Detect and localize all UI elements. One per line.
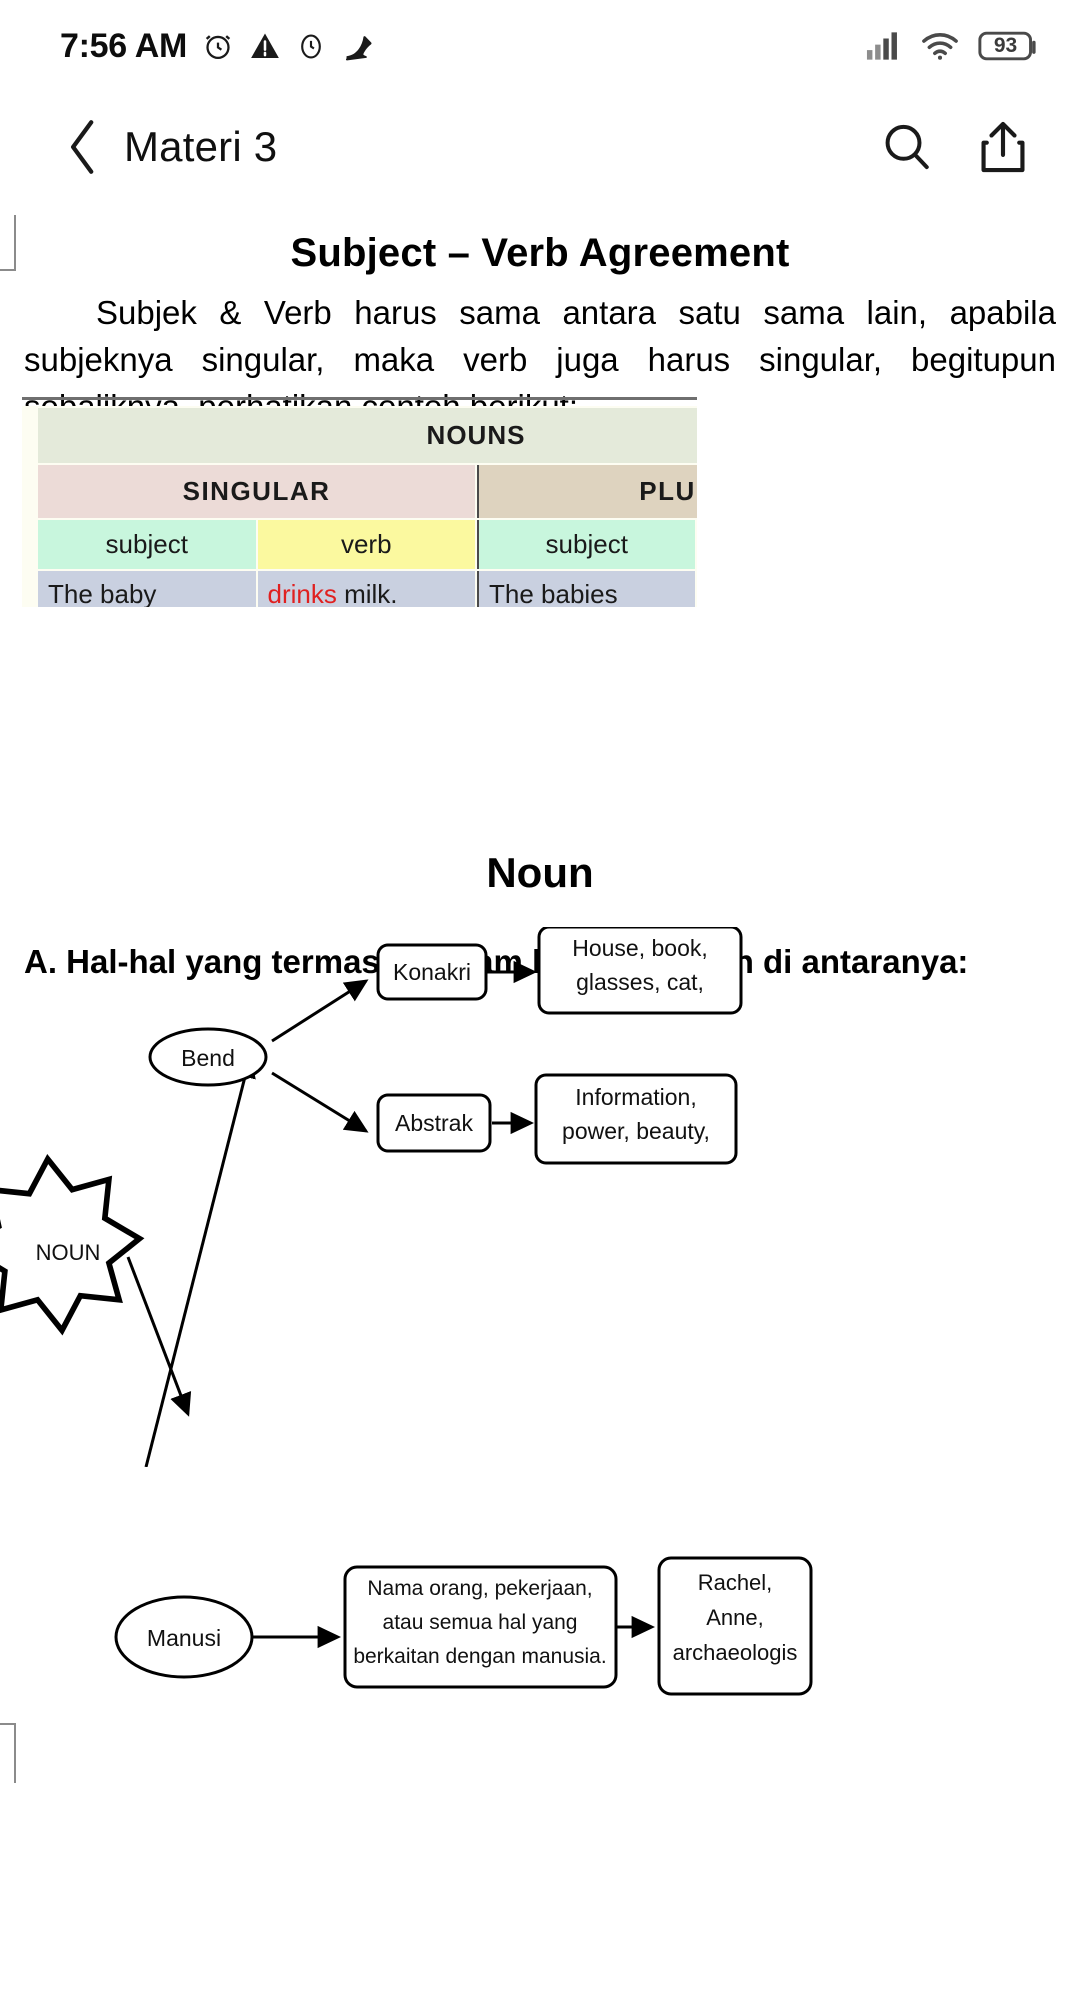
column-header-verb-plural: verb [697,520,698,569]
share-icon [979,120,1027,174]
node-abstrak-label: Abstrak [395,1110,473,1136]
node-konakri: Konakri [378,945,486,999]
edge-bend-konakri [272,981,366,1041]
nouns-table: NOUNS MT SINGULAR PLURAL subject verb su… [36,406,697,607]
edge-noun-bend [146,1057,250,1467]
verb-highlight: drinks [268,579,337,607]
table-body-background: NOUNS MT SINGULAR PLURAL subject verb su… [22,406,697,607]
status-bar-right: 93 [866,30,1038,62]
cell-plural-subject: The babies [477,571,695,607]
node-noun-star: NOUN [0,1159,140,1330]
verb-rest: milk. [337,579,398,607]
node-manusi: Manusi [116,1597,252,1677]
alarm-icon [201,29,235,63]
table-row: The baby drinks milk. The babies drink m… [38,571,697,607]
chevron-left-icon [66,119,100,175]
share-button[interactable] [968,112,1038,182]
section-heading-noun: Noun [0,849,1080,897]
node-manusi-examples-line2: Anne, [706,1605,764,1630]
node-bend-label: Bend [181,1045,235,1071]
node-manusi-examples: Rachel, Anne, archaeologis [659,1558,811,1694]
group-header-singular: SINGULAR [38,465,475,518]
node-konakri-examples-line2: glasses, cat, [576,969,704,995]
search-button[interactable] [872,112,942,182]
table-title-text: NOUNS [427,420,526,450]
node-abstrak-examples: Information, power, beauty, [536,1075,736,1163]
node-konakri-examples-line1: House, book, [572,935,708,961]
page-title: Materi 3 [124,123,277,171]
node-konakri-examples: House, book, glasses, cat, [539,927,741,1013]
group-header-plural: PLURAL [477,465,697,518]
noun-diagram-full: Bend Konakri House, book, glasses, cat, … [0,927,1080,1467]
node-manusi-label: Manusi [147,1625,221,1651]
search-icon [881,121,933,173]
cell-singular-subject: The baby [38,571,256,607]
screen: 7:56 AM [0,0,1080,1992]
node-manusi-desc-line1: Nama orang, pekerjaan, [367,1577,592,1600]
table-title-cell: NOUNS MT [38,408,697,463]
document-page: Subject – Verb Agreement Subjek & Verb h… [0,215,1080,1992]
status-bar: 7:56 AM [0,0,1080,92]
clock-icon [295,30,327,62]
node-bend: Bend [150,1029,266,1085]
table-row-groups: SINGULAR PLURAL [38,465,697,518]
table-row-columns: subject verb subject verb [38,520,697,569]
node-manusi-examples-line3: archaeologis [673,1640,798,1665]
crop-mark-top-left [0,215,16,271]
node-abstrak: Abstrak [378,1095,490,1151]
battery-percent-label: 93 [978,30,1033,62]
node-manusi-desc-line2: atau semua hal yang [383,1611,578,1634]
node-manusi-examples-line1: Rachel, [698,1570,773,1595]
back-button[interactable] [52,116,114,178]
signal-icon [866,31,902,61]
app-bar: Materi 3 [0,92,1080,202]
nouns-table-image: NOUNS MT SINGULAR PLURAL subject verb su… [22,397,697,607]
table-top-rule [22,397,697,400]
warning-icon [249,30,281,62]
cell-plural-verb: drink milk. [697,571,698,607]
node-abstrak-examples-line2: power, beauty, [562,1118,710,1144]
wifi-icon [920,31,960,61]
edge-bend-abstrak [272,1073,366,1131]
column-header-verb-singular: verb [258,520,476,569]
document-heading: Subject – Verb Agreement [0,231,1080,276]
battery-icon: 93 [978,30,1038,62]
column-header-subject-plural: subject [477,520,695,569]
node-konakri-label: Konakri [393,959,471,985]
status-time: 7:56 AM [60,27,187,66]
node-manusi-description: Nama orang, pekerjaan, atau semua hal ya… [345,1567,616,1687]
column-header-subject-singular: subject [38,520,256,569]
node-noun-label: NOUN [36,1240,101,1265]
notification-icon [341,29,377,63]
noun-diagram-layer: Bend Konakri House, book, glasses, cat, … [0,927,1080,1467]
noun-diagram-lower-svg: Manusi Nama orang, pekerjaan, atau semua… [0,1445,1080,1735]
node-manusi-desc-line3: berkaitan dengan manusia. [353,1645,606,1668]
nouns-table-inner: NOUNS MT SINGULAR PLURAL subject verb su… [22,397,697,607]
table-row-title: NOUNS MT [38,408,697,463]
cell-singular-verb: drinks milk. [258,571,476,607]
node-abstrak-examples-line1: Information, [575,1084,696,1110]
noun-diagram-lower: Manusi Nama orang, pekerjaan, atau semua… [0,1445,1080,1735]
status-bar-left: 7:56 AM [60,27,377,66]
